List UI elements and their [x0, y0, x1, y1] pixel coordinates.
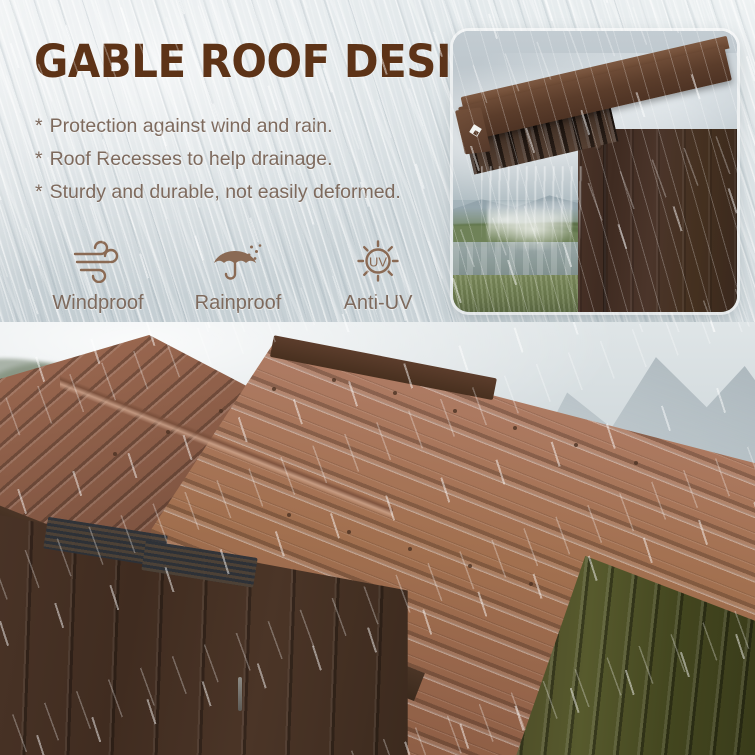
list-item: *Sturdy and durable, not easily deformed… [35, 176, 465, 209]
feature-label: Anti-UV [344, 292, 413, 314]
wind-icon [71, 237, 125, 285]
bullet-marker: * [35, 143, 43, 176]
feature-rainproof: Rainproof [168, 237, 308, 314]
list-item: *Protection against wind and rain. [35, 110, 465, 143]
uv-badge-text: UV [369, 255, 387, 270]
main-photo-gable-roof [0, 322, 755, 755]
sun-uv-icon: UV [351, 237, 405, 285]
page-title: GABLE ROOF DESIGN [34, 38, 520, 86]
inset-rain-overlay [453, 31, 737, 312]
bullet-marker: * [35, 110, 43, 143]
feature-windproof: Windproof [28, 237, 168, 314]
umbrella-icon [211, 237, 265, 285]
door-latch [238, 677, 242, 711]
feature-icon-row: Windproof Rainproof [28, 228, 448, 314]
feature-label: Rainproof [195, 292, 282, 314]
bullet-marker: * [35, 176, 43, 209]
feature-label: Windproof [52, 292, 143, 314]
feature-bullet-list: *Protection against wind and rain. *Roof… [35, 110, 465, 209]
product-feature-poster: GABLE ROOF DESIGN *Protection against wi… [0, 0, 755, 755]
inset-photo-eave-drainage [453, 31, 737, 312]
list-item: *Roof Recesses to help drainage. [35, 143, 465, 176]
bullet-text: Roof Recesses to help drainage. [50, 148, 333, 170]
bullet-text: Protection against wind and rain. [50, 115, 333, 137]
feature-anti-uv: UV Anti-UV [308, 237, 448, 314]
bullet-text: Sturdy and durable, not easily deformed. [50, 181, 401, 203]
